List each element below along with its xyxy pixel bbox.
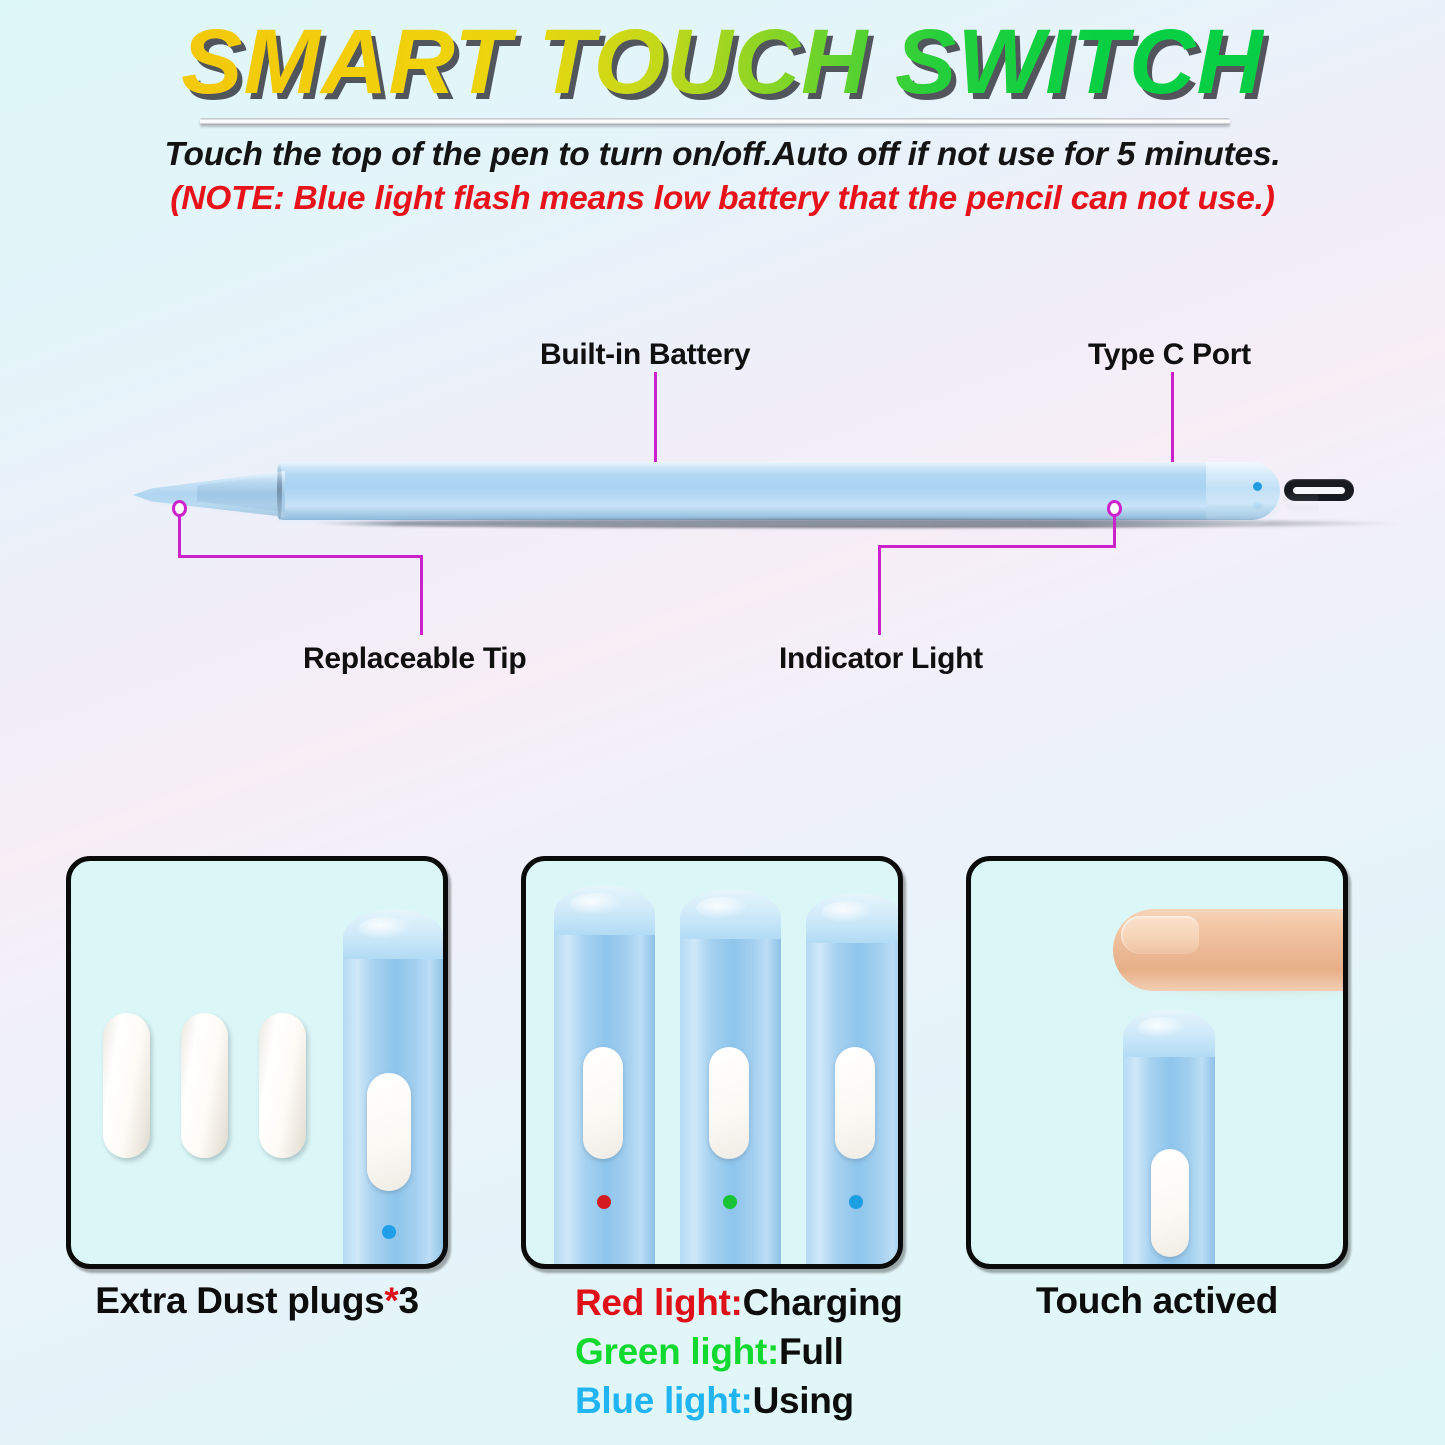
leader-line-indicator-light-upper [1113,512,1116,548]
legend-value-blue: Using [753,1380,854,1421]
callout-label-indicator-light: Indicator Light [779,642,983,676]
dust-plug-2 [181,1013,228,1158]
panel2-led-red [597,1195,611,1209]
leader-line-built-in-battery [654,372,657,474]
leader-dot-replaceable-tip [172,500,187,517]
legend-value-red: Charging [743,1282,903,1323]
pen-diagram: Built-in Battery Type C Port [0,300,1445,720]
legend-label-blue: Blue light: [575,1380,753,1421]
finger-illustration [1113,909,1348,991]
pen-reflection-led [1253,501,1262,509]
leader-line-replaceable-tip-lower [420,555,423,635]
panel2-pen-c-patch [835,1047,875,1159]
panel-touch-actived [966,856,1348,1269]
pen-reflection [133,472,1318,526]
panel3-touch-patch [1151,1149,1189,1257]
infographic-page: SMART TOUCH SWITCH Touch the top of the … [0,0,1445,1445]
callout-label-built-in-battery: Built-in Battery [540,338,750,372]
legend-row-red: Red light:Charging [575,1278,903,1327]
leader-line-indicator-light-lower [878,545,881,635]
legend-row-blue: Blue light:Using [575,1376,903,1425]
leader-dot-indicator-light [1107,500,1122,517]
dust-plug-1 [103,1013,150,1158]
pen-reflection-tip [133,479,285,518]
note-text: (NOTE: Blue light flash means low batter… [0,180,1445,218]
leader-line-replaceable-tip-upper [178,512,181,558]
legend-value-green: Full [779,1331,844,1372]
leader-line-type-c-port [1171,372,1174,474]
panel1-led-blue [382,1225,396,1239]
pen-reflection-barrel [277,477,1277,526]
subtitle-text: Touch the top of the pen to turn on/off.… [0,136,1445,174]
panel1-touch-patch [367,1073,411,1191]
caption-dust-plugs-text: Extra Dust plugs [95,1280,384,1321]
panel-light-status [521,856,903,1269]
title-container: SMART TOUCH SWITCH [0,14,1445,110]
caption-dust-plugs-count: 3 [399,1280,419,1321]
leader-line-replaceable-tip-horizontal [178,555,423,558]
panel2-pen-b-patch [709,1047,749,1159]
callout-label-replaceable-tip: Replaceable Tip [303,642,526,676]
callout-label-type-c-port: Type C Port [1088,338,1251,372]
legend-label-green: Green light: [575,1331,779,1372]
panel2-led-blue [849,1195,863,1209]
legend-row-green: Green light:Full [575,1327,903,1376]
light-status-legend: Red light:Charging Green light:Full Blue… [575,1278,903,1425]
caption-touch-actived: Touch actived [966,1280,1348,1322]
panel2-pen-a-patch [583,1047,623,1159]
page-title: SMART TOUCH SWITCH [181,14,1264,110]
legend-label-red: Red light: [575,1282,743,1323]
caption-dust-plugs: Extra Dust plugs*3 [66,1280,448,1322]
title-divider [200,118,1230,125]
caption-asterisk: * [384,1280,398,1321]
feature-panels: Extra Dust plugs*3 Red light:Charging Gr… [0,856,1445,1445]
dust-plug-3 [259,1013,306,1158]
pen-reflection-cap [1206,477,1280,526]
fingernail [1121,916,1199,954]
panel-dust-plugs [66,856,448,1269]
panel2-led-green [723,1195,737,1209]
leader-line-indicator-light-horizontal [878,545,1116,548]
